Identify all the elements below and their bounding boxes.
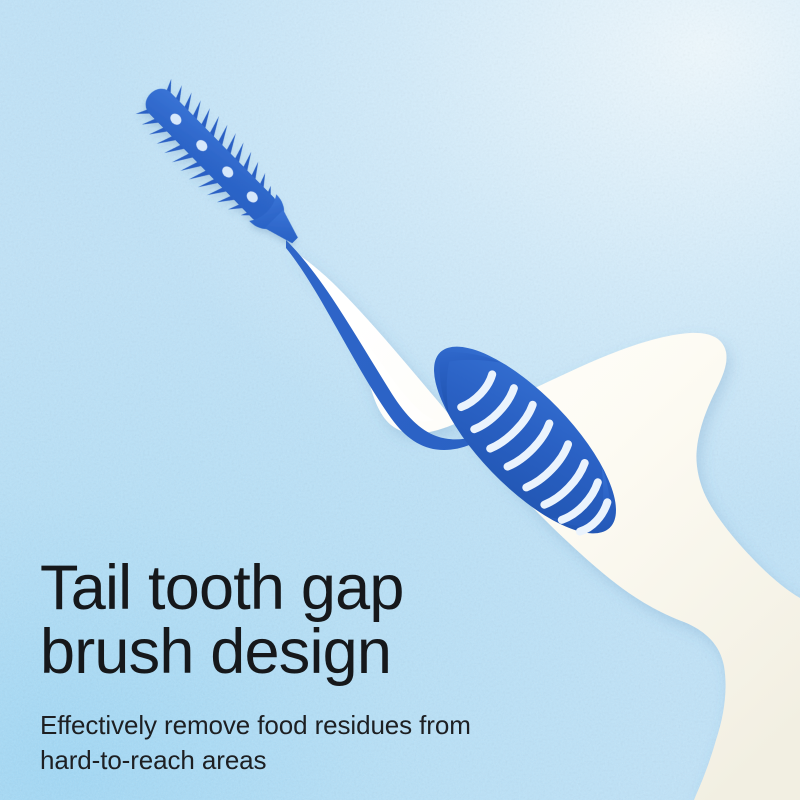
product-poster: Tail tooth gap brush design Effectively … (0, 0, 800, 800)
brush-head (127, 70, 318, 263)
caption-block: Tail tooth gap brush design Effectively … (40, 556, 600, 778)
brush-head-shaft (140, 83, 280, 225)
subheadline: Effectively remove food residues from ha… (40, 684, 600, 778)
headline: Tail tooth gap brush design (40, 556, 600, 684)
